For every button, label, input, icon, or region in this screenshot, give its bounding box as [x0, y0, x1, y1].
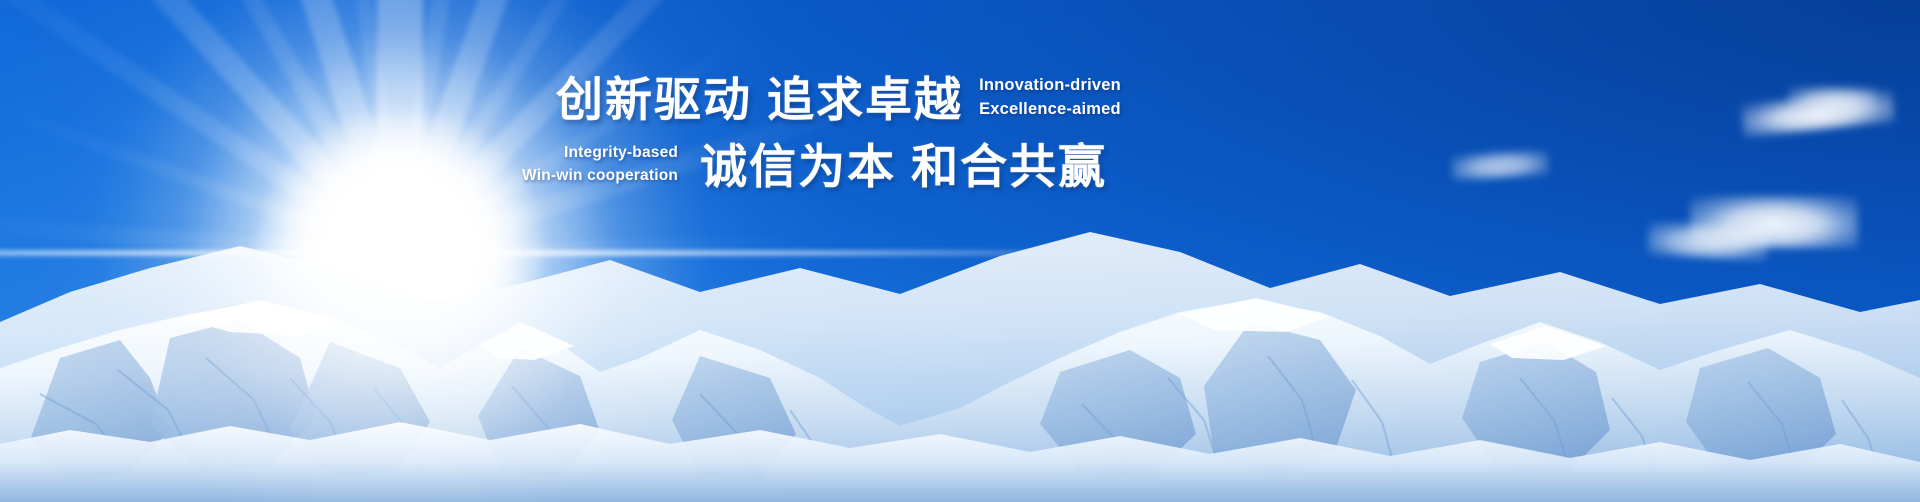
slogan-line-1-english-a: Innovation-driven — [979, 74, 1121, 98]
slogan-line-1-chinese: 创新驱动 追求卓越 — [556, 75, 963, 124]
slogan-line-2-english-b: Win-win cooperation — [522, 165, 678, 187]
slogan-line-1: 创新驱动 追求卓越 Innovation-driven Excellence-a… — [556, 74, 1121, 124]
slogan-line-2: Integrity-based Win-win cooperation 诚信为本… — [522, 142, 1107, 191]
slogan-line-2-english: Integrity-based Win-win cooperation — [522, 142, 678, 191]
slogan-line-1-english-b: Excellence-aimed — [979, 98, 1121, 122]
slogan-line-2-english-a: Integrity-based — [522, 142, 678, 164]
slogan-line-2-chinese: 诚信为本 和合共赢 — [700, 142, 1107, 191]
hero-banner: 创新驱动 追求卓越 Innovation-driven Excellence-a… — [0, 0, 1920, 502]
slogan-line-1-english: Innovation-driven Excellence-aimed — [979, 74, 1121, 124]
